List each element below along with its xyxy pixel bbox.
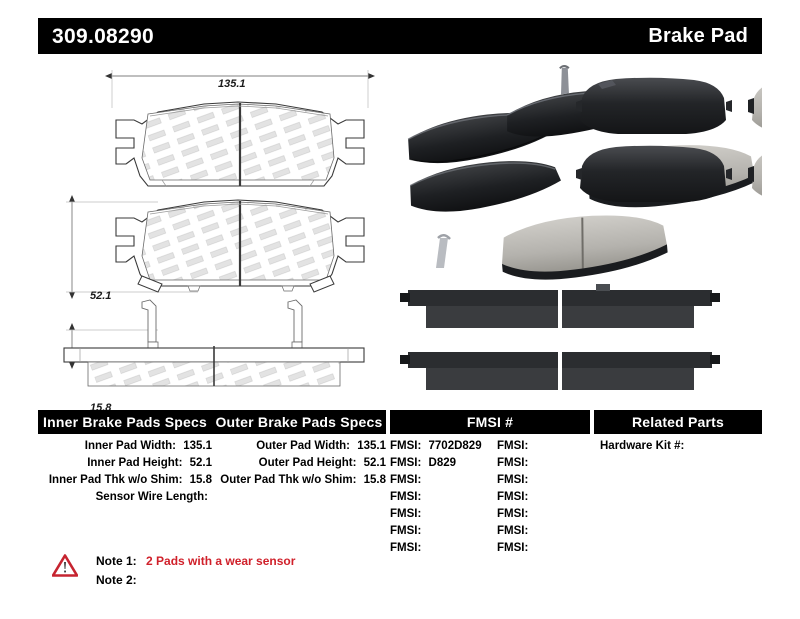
spec-row: Outer Pad Width: 135.1: [216, 438, 386, 455]
fmsi-label: FMSI:: [497, 525, 528, 537]
title-bar: 309.08290 Brake Pad: [38, 18, 762, 54]
fmsi-row: FMSI: D829: [390, 455, 495, 472]
spec-label: Inner Pad Width:: [85, 440, 176, 452]
spec-label: Outer Pad Height:: [259, 457, 357, 469]
hardware-kit-label: Hardware Kit #:: [600, 440, 684, 452]
fmsi-row: FMSI: 7702D829: [390, 438, 495, 455]
spec-row: Sensor Wire Length:: [38, 489, 212, 506]
product-photo-svg: [390, 62, 762, 392]
spec-label: Inner Pad Height:: [87, 457, 182, 469]
fmsi-label: FMSI:: [390, 440, 421, 452]
spec-row: Inner Pad Thk w/o Shim: 15.8: [38, 472, 212, 489]
dimension-width-label: 135.1: [218, 78, 246, 90]
column-header-fmsi: FMSI #: [390, 410, 590, 434]
note-label: Note 1:: [96, 554, 137, 568]
fmsi-label: FMSI:: [497, 491, 528, 503]
fmsi-row: FMSI:: [497, 506, 592, 523]
spec-value: 135.1: [357, 440, 386, 452]
fmsi-row: FMSI:: [390, 489, 495, 506]
spec-label: Sensor Wire Length:: [96, 491, 208, 503]
spec-label: Outer Pad Width:: [256, 440, 350, 452]
note-row: Note 1: 2 Pads with a wear sensor: [96, 552, 295, 571]
fmsi-label: FMSI:: [497, 474, 528, 486]
fmsi-label: FMSI:: [390, 491, 421, 503]
note-text: 2 Pads with a wear sensor: [146, 554, 295, 568]
spec-label: Inner Pad Thk w/o Shim:: [49, 474, 183, 486]
fmsi-row: FMSI:: [390, 472, 495, 489]
related-parts-column: Hardware Kit #:: [600, 438, 762, 455]
note-row: Note 2:: [96, 571, 295, 590]
spec-value: 15.8: [190, 474, 212, 486]
spec-row: Inner Pad Width: 135.1: [38, 438, 212, 455]
part-number: 309.08290: [52, 26, 154, 47]
spec-value: 52.1: [190, 457, 212, 469]
fmsi-row: FMSI:: [497, 455, 592, 472]
fmsi-label: FMSI:: [390, 508, 421, 520]
fmsi-row: FMSI:: [497, 472, 592, 489]
fmsi-row: FMSI:: [497, 523, 592, 540]
spec-label: Outer Pad Thk w/o Shim:: [220, 474, 356, 486]
fmsi-column-left: FMSI: 7702D829 FMSI: D829 FMSI: FMSI: FM…: [390, 438, 495, 557]
column-header-inner-specs: Inner Brake Pads Specs: [38, 410, 212, 434]
fmsi-label: FMSI:: [390, 474, 421, 486]
fmsi-value: D829: [429, 457, 457, 469]
spec-row: Outer Pad Height: 52.1: [216, 455, 386, 472]
header-inner-outer: Inner Brake Pads Specs Outer Brake Pads …: [38, 410, 386, 434]
dimension-height-label: 52.1: [90, 290, 111, 302]
note-lines: Note 1: 2 Pads with a wear sensor Note 2…: [96, 552, 295, 590]
fmsi-label: FMSI:: [497, 508, 528, 520]
warning-triangle-icon: [52, 554, 78, 577]
product-type-title: Brake Pad: [648, 26, 748, 46]
inner-specs-column: Inner Pad Width: 135.1 Inner Pad Height:…: [38, 438, 212, 506]
specifications-table: Inner Brake Pads Specs Outer Brake Pads …: [38, 410, 762, 540]
column-header-outer-specs: Outer Brake Pads Specs: [212, 410, 386, 434]
product-photos: [390, 62, 762, 392]
fmsi-label: FMSI:: [497, 440, 528, 452]
spec-row: Outer Pad Thk w/o Shim: 15.8: [216, 472, 386, 489]
notes-section: Note 1: 2 Pads with a wear sensor Note 2…: [52, 552, 552, 598]
spec-row: Inner Pad Height: 52.1: [38, 455, 212, 472]
fmsi-row: FMSI:: [497, 489, 592, 506]
brake-pad-blueprint-svg: [38, 62, 398, 392]
fmsi-label: FMSI:: [390, 457, 421, 469]
spec-value: 15.8: [364, 474, 386, 486]
fmsi-label: FMSI:: [390, 525, 421, 537]
spec-value: 135.1: [183, 440, 212, 452]
related-parts-row: Hardware Kit #:: [600, 438, 762, 455]
column-header-related-parts: Related Parts: [594, 410, 762, 434]
fmsi-label: FMSI:: [497, 457, 528, 469]
fmsi-row: FMSI:: [497, 438, 592, 455]
outer-specs-column: Outer Pad Width: 135.1 Outer Pad Height:…: [216, 438, 386, 506]
technical-drawing: 135.1 52.1 15.8: [38, 62, 398, 392]
spec-row: [216, 489, 386, 506]
fmsi-row: FMSI:: [390, 506, 495, 523]
fmsi-value: 7702D829: [429, 440, 482, 452]
fmsi-column-right: FMSI: FMSI: FMSI: FMSI: FMSI: FMSI: FMSI…: [497, 438, 592, 557]
fmsi-row: FMSI:: [390, 523, 495, 540]
spec-value: 52.1: [364, 457, 386, 469]
note-label: Note 2:: [96, 573, 137, 587]
